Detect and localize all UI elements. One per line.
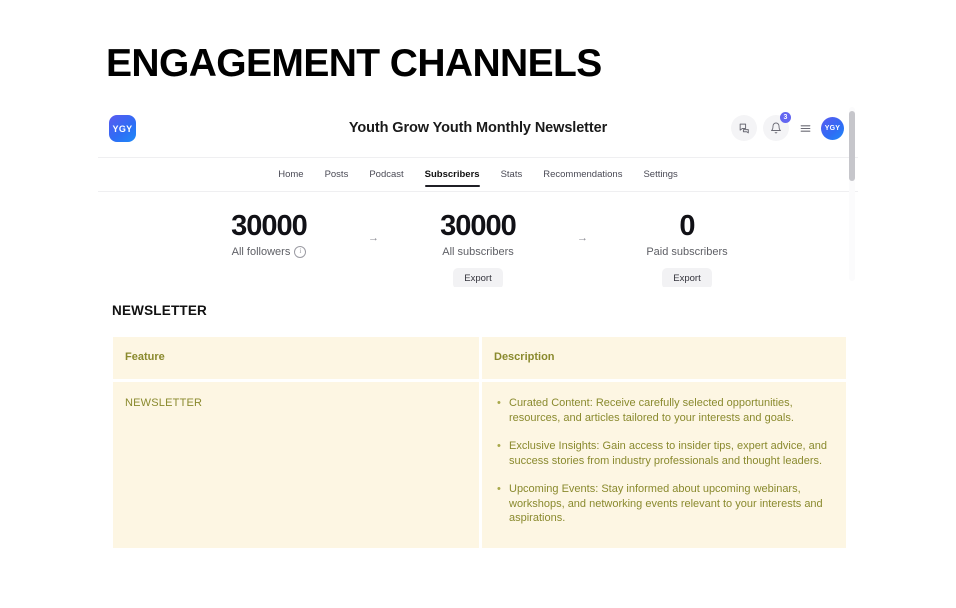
arrow-icon-2: →	[566, 210, 600, 244]
list-item: Curated Content: Receive carefully selec…	[509, 396, 834, 425]
tab-recommendations[interactable]: Recommendations	[543, 161, 622, 188]
stat-all-subscribers: 30000 All subscribers Export	[391, 210, 566, 287]
tab-posts[interactable]: Posts	[325, 161, 349, 188]
app-header-actions: 3 YGY	[731, 115, 844, 141]
cell-description: Curated Content: Receive carefully selec…	[482, 382, 846, 548]
stat-label: Paid subscribers	[600, 246, 775, 258]
embedded-app-screenshot: YGY Youth Grow Youth Monthly Newsletter …	[98, 101, 858, 287]
scrollbar[interactable]	[849, 107, 855, 281]
stat-value: 30000	[182, 210, 357, 242]
feature-name: NEWSLETTER	[125, 397, 202, 409]
tab-podcast[interactable]: Podcast	[369, 161, 403, 188]
stat-label-text: Paid subscribers	[646, 246, 727, 258]
scrollbar-thumb[interactable]	[849, 111, 855, 181]
list-item: Exclusive Insights: Gain access to insid…	[509, 439, 834, 468]
stat-all-followers: 30000 All followers i	[182, 210, 357, 258]
section-label: NEWSLETTER	[112, 303, 207, 318]
stat-paid-subscribers: 0 Paid subscribers Export	[600, 210, 775, 287]
stat-label: All subscribers	[391, 246, 566, 258]
tab-settings[interactable]: Settings	[643, 161, 677, 188]
page-title: ENGAGEMENT CHANNELS	[106, 41, 602, 87]
stat-value: 0	[600, 210, 775, 242]
chat-bubbles-icon[interactable]	[731, 115, 757, 141]
stat-value: 30000	[391, 210, 566, 242]
column-header-description: Description	[482, 337, 846, 379]
export-subscribers-button[interactable]: Export	[453, 268, 502, 287]
feature-table: Feature Description NEWSLETTER Curated C…	[110, 334, 849, 551]
stat-label-text: All subscribers	[442, 246, 514, 258]
avatar[interactable]: YGY	[821, 117, 844, 140]
column-header-feature: Feature	[113, 337, 479, 379]
tab-subscribers[interactable]: Subscribers	[425, 161, 480, 188]
hamburger-menu-icon[interactable]	[795, 115, 815, 141]
cell-feature: NEWSLETTER	[113, 382, 479, 548]
stat-label: All followers i	[182, 246, 357, 258]
table-header-row: Feature Description	[113, 337, 846, 379]
arrow-icon-1: →	[357, 210, 391, 244]
stat-label-text: All followers	[232, 246, 291, 258]
list-item: Upcoming Events: Stay informed about upc…	[509, 482, 834, 526]
export-paid-button[interactable]: Export	[662, 268, 711, 287]
subscriber-stats: 30000 All followers i → 30000 All subscr…	[98, 192, 858, 287]
info-circle-icon[interactable]: i	[294, 246, 306, 258]
app-nav: Home Posts Podcast Subscribers Stats Rec…	[98, 158, 858, 192]
table-row: NEWSLETTER Curated Content: Receive care…	[113, 382, 846, 548]
tab-stats[interactable]: Stats	[501, 161, 523, 188]
description-bullet-list: Curated Content: Receive carefully selec…	[494, 396, 834, 526]
app-topbar: YGY Youth Grow Youth Monthly Newsletter …	[98, 101, 858, 158]
notification-badge: 3	[780, 112, 791, 123]
bell-icon[interactable]: 3	[763, 115, 789, 141]
tab-home[interactable]: Home	[278, 161, 303, 188]
